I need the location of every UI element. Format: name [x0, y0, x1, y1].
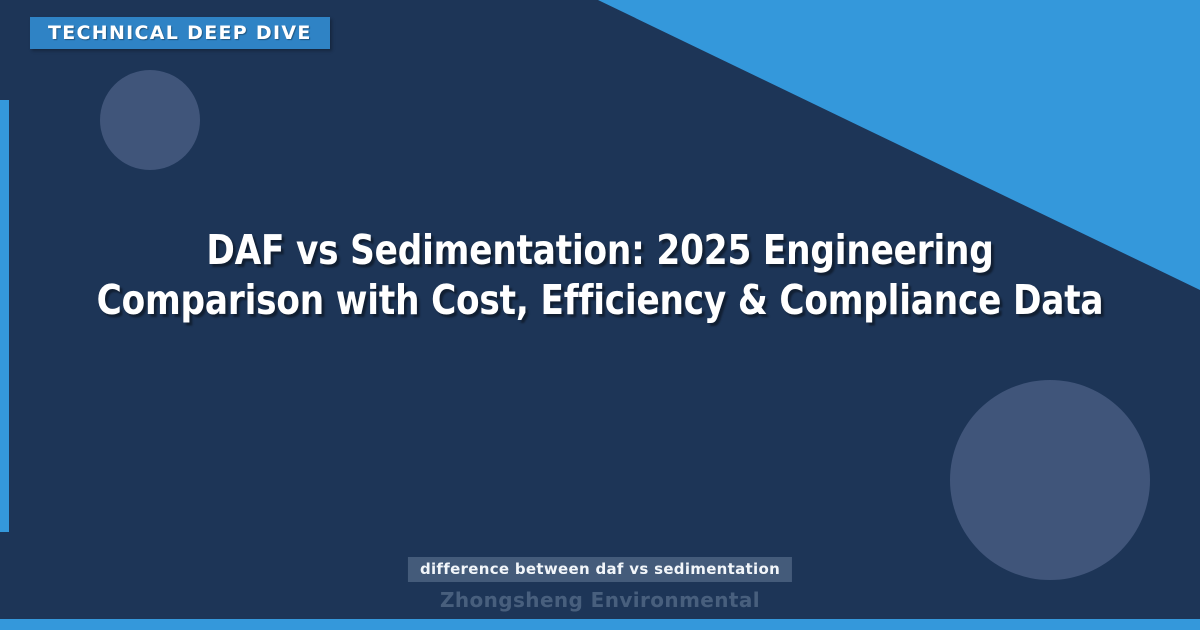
keyword-tag-label: difference between daf vs sedimentation	[420, 562, 780, 577]
brand-name: Zhongsheng Environmental	[440, 588, 760, 612]
title-block: DAF vs Sedimentation: 2025 Engineering C…	[50, 225, 1150, 325]
bottom-accent-bar	[0, 619, 1200, 630]
footer-brand: Zhongsheng Environmental	[0, 590, 1200, 611]
page-title: DAF vs Sedimentation: 2025 Engineering C…	[89, 225, 1112, 325]
keyword-tag: difference between daf vs sedimentation	[408, 557, 792, 582]
left-accent-strip	[0, 100, 9, 532]
category-badge-label: TECHNICAL DEEP DIVE	[48, 24, 312, 43]
social-card: TECHNICAL DEEP DIVE DAF vs Sedimentation…	[0, 0, 1200, 630]
decorative-circle-top-left	[100, 70, 200, 170]
decorative-circle-bottom-right	[950, 380, 1150, 580]
category-badge: TECHNICAL DEEP DIVE	[30, 17, 330, 49]
